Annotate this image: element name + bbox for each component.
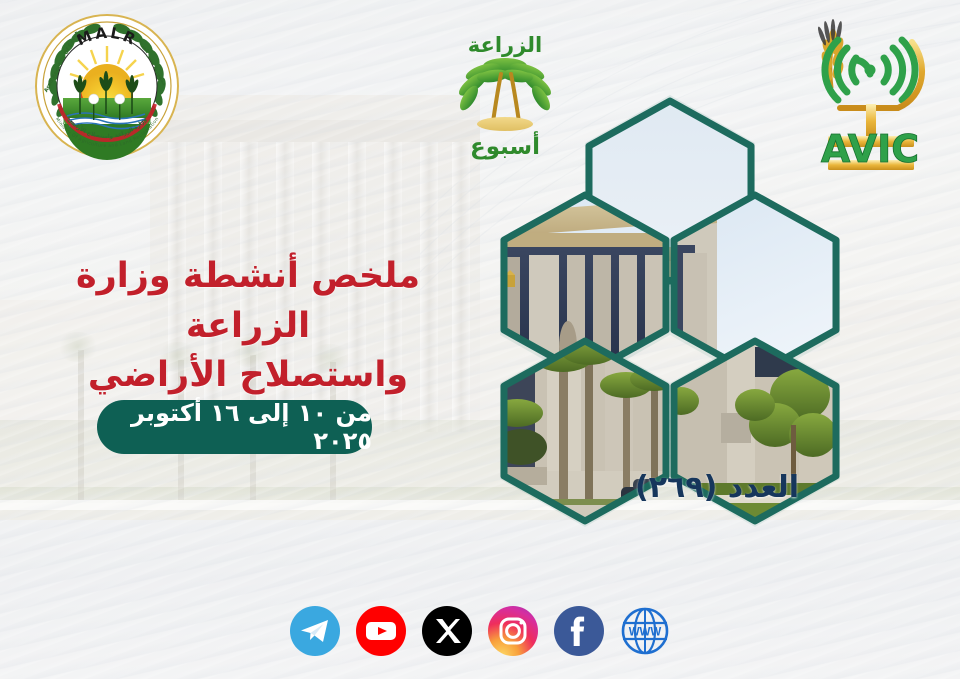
poster-canvas: MALR Arab Republic Of Egypt جمهورية مصر … [0, 0, 960, 679]
social-links-bar: WWW [0, 600, 960, 662]
background-cornice [150, 120, 480, 142]
youtube-icon[interactable] [356, 606, 406, 656]
page-title: ملخص أنشطة وزارة الزراعة واستصلاح الأراض… [48, 252, 448, 401]
agriweek-bottom-text: أسبوع [470, 130, 540, 160]
sand-mound [477, 117, 533, 131]
instagram-icon[interactable] [488, 606, 538, 656]
website-icon[interactable]: WWW [620, 606, 670, 656]
agriweek-top-text: الزراعة [468, 33, 543, 57]
date-range-text: من ١٠ إلى ١٦ أكتوبر ٢٠٢٥ [97, 399, 372, 455]
malr-emblem: MALR Arab Republic Of Egypt جمهورية مصر … [33, 12, 181, 160]
title-line-2: واستصلاح الأراضي [48, 351, 448, 401]
avic-wordmark: AVIC [821, 127, 919, 170]
agriculture-week-logo: الزراعة أسبوع الزرا [443, 22, 567, 174]
x-icon[interactable] [422, 606, 472, 656]
palm-fronds [456, 58, 555, 113]
date-range-badge: من ١٠ إلى ١٦ أكتوبر ٢٠٢٥ [97, 400, 372, 454]
avic-logo: AVIC AVIC [800, 18, 940, 170]
issue-number: العدد (٢٦٩) [612, 470, 822, 505]
facebook-icon[interactable] [554, 606, 604, 656]
title-line-1: ملخص أنشطة وزارة الزراعة [48, 252, 448, 351]
telegram-icon[interactable] [290, 606, 340, 656]
www-label: WWW [629, 627, 662, 639]
